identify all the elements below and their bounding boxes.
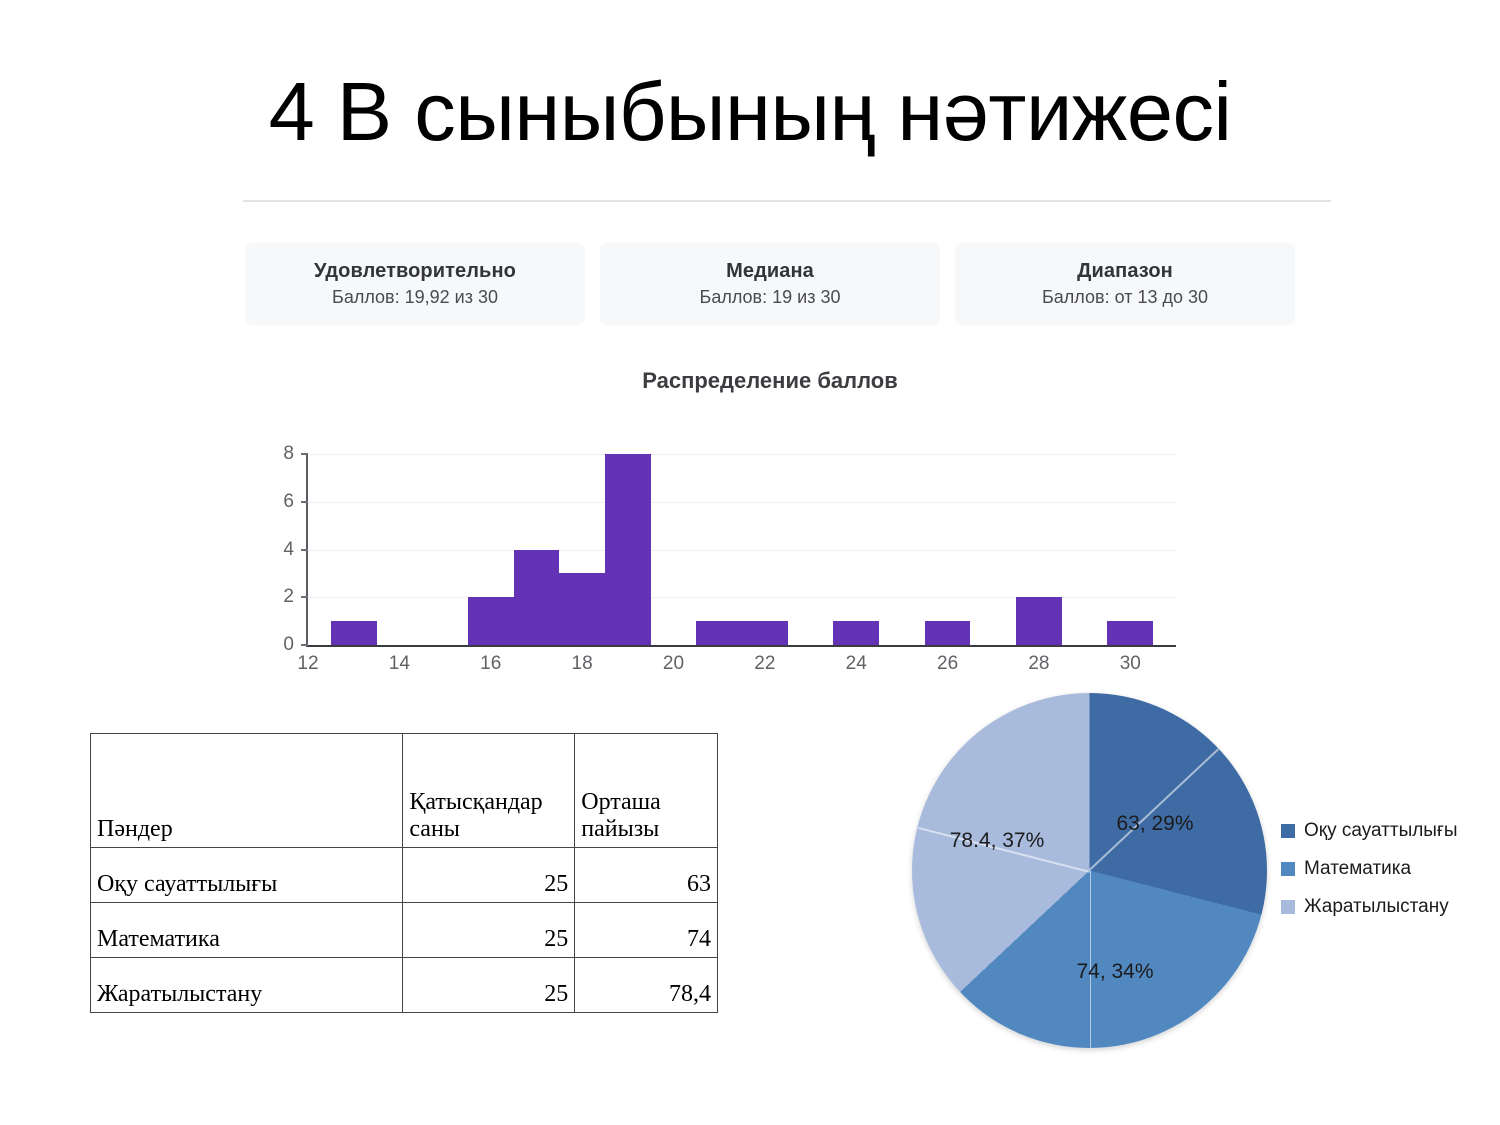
legend-label: Жаратылыстану (1304, 896, 1449, 918)
pie-legend: Оқу сауаттылығы Математика Жаратылыстану (1281, 812, 1491, 926)
gridline (308, 502, 1176, 503)
stat-card-label: Удовлетворительно (314, 260, 516, 283)
x-axis-tick-label: 18 (572, 653, 593, 675)
stat-card-score: Удовлетворительно Баллов: 19,92 из 30 (245, 243, 585, 325)
histogram-chart: 0246812141618202224262830 (258, 440, 1188, 685)
legend-swatch-icon (1281, 824, 1295, 838)
x-axis-tick-label: 22 (754, 653, 775, 675)
pie-separator (1090, 871, 1092, 1048)
legend-item-reading: Оқу сауаттылығы (1281, 812, 1491, 850)
stat-card-label: Медиана (726, 260, 814, 283)
page-title: 4 В сыныбының нәтижесі (0, 68, 1500, 155)
table-cell-subject: Жаратылыстану (91, 958, 403, 1013)
histogram-plot-area: 0246812141618202224262830 (306, 454, 1176, 647)
legend-swatch-icon (1281, 862, 1295, 876)
y-axis-tick-label: 2 (283, 586, 294, 608)
histogram-title: Распределение баллов (245, 368, 1295, 394)
table-cell-percent: 74 (575, 903, 718, 958)
title-divider (243, 200, 1331, 202)
x-axis-tick-label: 14 (389, 653, 410, 675)
table-cell-subject: Оқу сауаттылығы (91, 848, 403, 903)
table-cell-percent: 63 (575, 848, 718, 903)
histogram-bar (559, 573, 605, 645)
pie-slice-label-reading: 63, 29% (1116, 812, 1193, 836)
legend-label: Оқу сауаттылығы (1304, 820, 1458, 842)
x-axis-tick-label: 20 (663, 653, 684, 675)
table-row: Жаратылыстану 25 78,4 (91, 958, 718, 1013)
y-axis-tick-label: 0 (283, 634, 294, 656)
table-header-subject: Пәндер (91, 734, 403, 848)
histogram-bar (925, 621, 971, 645)
stat-card-value: Баллов: от 13 до 30 (1042, 287, 1208, 308)
y-axis-tick-mark (301, 453, 308, 455)
gridline (308, 454, 1176, 455)
stat-card-label: Диапазон (1077, 260, 1173, 283)
x-axis-tick-label: 30 (1120, 653, 1141, 675)
histogram-bar (696, 621, 742, 645)
stat-card-row: Удовлетворительно Баллов: 19,92 из 30 Ме… (245, 243, 1295, 325)
legend-item-math: Математика (1281, 850, 1491, 888)
table-header-count: Қатысқандар саны (403, 734, 575, 848)
y-axis-tick-label: 4 (283, 539, 294, 561)
stat-card-range: Диапазон Баллов: от 13 до 30 (955, 243, 1295, 325)
y-axis-tick-label: 8 (283, 443, 294, 465)
stat-card-value: Баллов: 19,92 из 30 (332, 287, 498, 308)
stat-card-value: Баллов: 19 из 30 (700, 287, 841, 308)
y-axis-tick-mark (301, 644, 308, 646)
table-cell-count: 25 (403, 903, 575, 958)
stat-card-median: Медиана Баллов: 19 из 30 (600, 243, 940, 325)
x-axis-tick-label: 16 (480, 653, 501, 675)
histogram-bar (742, 621, 788, 645)
histogram-bar (331, 621, 377, 645)
y-axis-tick-mark (301, 596, 308, 598)
pie-chart: 63, 29% 74, 34% 78.4, 37% (912, 693, 1267, 1048)
y-axis-tick-label: 6 (283, 491, 294, 513)
x-axis-tick-label: 28 (1028, 653, 1049, 675)
pie-slice-label-math: 74, 34% (1076, 960, 1153, 984)
subjects-table: Пәндер Қатысқандар саны Орташа пайызы Оқ… (90, 733, 718, 1013)
x-axis-tick-label: 12 (297, 653, 318, 675)
pie-slice-label-science: 78.4, 37% (950, 829, 1045, 853)
table-row: Оқу сауаттылығы 25 63 (91, 848, 718, 903)
y-axis-tick-mark (301, 501, 308, 503)
x-axis-tick-label: 26 (937, 653, 958, 675)
table-header-percent: Орташа пайызы (575, 734, 718, 848)
histogram-bar (605, 454, 651, 645)
histogram-bar (514, 550, 560, 646)
table-header-row: Пәндер Қатысқандар саны Орташа пайызы (91, 734, 718, 848)
x-axis-tick-label: 24 (846, 653, 867, 675)
legend-swatch-icon (1281, 900, 1295, 914)
gridline (308, 550, 1176, 551)
legend-label: Математика (1304, 858, 1411, 880)
histogram-bar (1107, 621, 1153, 645)
table-row: Математика 25 74 (91, 903, 718, 958)
legend-item-science: Жаратылыстану (1281, 888, 1491, 926)
histogram-bar (468, 597, 514, 645)
table-cell-percent: 78,4 (575, 958, 718, 1013)
histogram-bar (1016, 597, 1062, 645)
table-cell-count: 25 (403, 848, 575, 903)
table-cell-count: 25 (403, 958, 575, 1013)
table-cell-subject: Математика (91, 903, 403, 958)
y-axis-tick-mark (301, 549, 308, 551)
histogram-bar (833, 621, 879, 645)
